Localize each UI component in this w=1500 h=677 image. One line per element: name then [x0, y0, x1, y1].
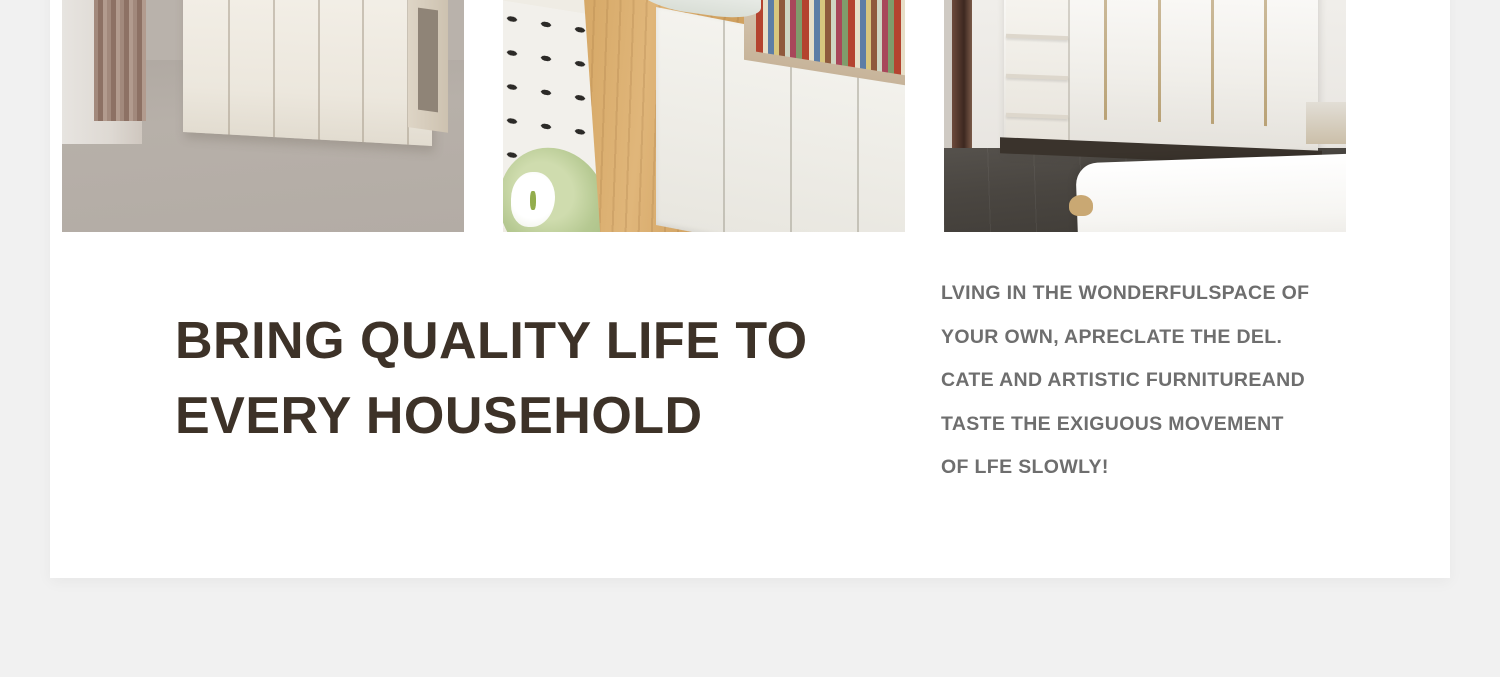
- description-line-2: YOUR OWN, APRECLATE THE DEL.: [941, 316, 1381, 360]
- description-line-4: TASTE THE EXIGUOUS MOVEMENT: [941, 403, 1381, 447]
- furniture-photo-gallery: [62, 0, 1346, 232]
- page-root: BRING QUALITY LIFE TO EVERY HOUSEHOLD LV…: [0, 0, 1500, 677]
- gallery-image-1[interactable]: [62, 0, 464, 232]
- headline-line-2: EVERY HOUSEHOLD: [175, 379, 835, 454]
- photo-wood-sill-bookshelf: [503, 0, 905, 232]
- promo-description: LVING IN THE WONDERFULSPACE OF YOUR OWN,…: [941, 272, 1381, 490]
- headline-line-1: BRING QUALITY LIFE TO: [175, 304, 835, 379]
- photo-white-wardrobe-bedroom: [944, 0, 1346, 232]
- photo-cream-wardrobe: [62, 0, 464, 232]
- description-line-3: CATE AND ARTISTIC FURNITUREAND: [941, 359, 1381, 403]
- description-line-1: LVING IN THE WONDERFULSPACE OF: [941, 272, 1381, 316]
- gallery-image-3[interactable]: [944, 0, 1346, 232]
- description-line-5: OF LFE SLOWLY!: [941, 446, 1381, 490]
- promo-text-section: BRING QUALITY LIFE TO EVERY HOUSEHOLD LV…: [50, 232, 1450, 578]
- page-title: BRING QUALITY LIFE TO EVERY HOUSEHOLD: [175, 304, 835, 454]
- gallery-image-2[interactable]: [503, 0, 905, 232]
